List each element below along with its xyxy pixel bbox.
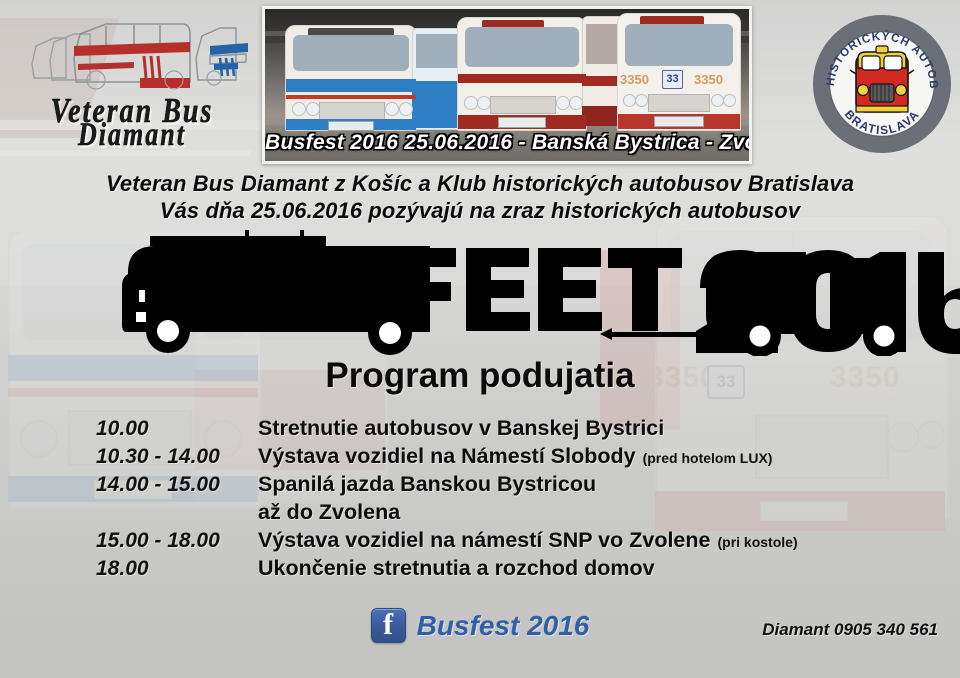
badge-bus-illustration [850, 46, 914, 112]
photo-bus-red [457, 17, 587, 131]
program-time: 15.00 - 18.00 [96, 529, 258, 553]
program-time: 10.00 [96, 417, 258, 441]
program-row: 18.00 Ukončenie stretnutia a rozchod dom… [96, 556, 916, 581]
facebook-f-glyph: f [372, 608, 405, 642]
logo-word-diamant: Diamant [14, 116, 250, 154]
program-note: (pri kostole) [717, 534, 797, 550]
busfest-wordmark-icon [0, 228, 960, 356]
program-description: Výstava vozidiel na Námestí Slobody [258, 444, 636, 469]
program-note: (pred hotelom LUX) [643, 450, 773, 466]
program-description: Výstava vozidiel na námestí SNP vo Zvole… [258, 528, 710, 553]
veteran-bus-diamant-logo: Veteran Bus Diamant [14, 12, 250, 147]
program-row: 10.30 - 14.00 Výstava vozidiel na Námest… [96, 444, 916, 469]
photo-bus-route-badge: 33 [662, 70, 683, 89]
program-description: Stretnutie autobusov v Banskej Bystrici [258, 416, 664, 441]
club-badge-icon: KLUB HISTORICKÝCH AUTOBUSOV BRATISLAVA [812, 14, 952, 154]
program-row: 10.00 Stretnutie autobusov v Banskej Bys… [96, 416, 916, 441]
program-description: až do Zvolena [258, 500, 400, 525]
photo-bus-blue [285, 25, 417, 131]
header-photo-strip: 3350 3350 33 Busfest 2016 25.06.2016 - B… [262, 6, 752, 164]
busfest-poster: 3350 3350 33 [0, 0, 960, 678]
program-time: 10.30 - 14.00 [96, 445, 258, 469]
program-schedule: 10.00 Stretnutie autobusov v Banskej Bys… [96, 416, 916, 584]
program-row-continuation: až do Zvolena [96, 500, 916, 525]
klub-historickych-autobusov-badge: KLUB HISTORICKÝCH AUTOBUSOV BRATISLAVA [812, 14, 952, 154]
photo-bus-bratislava: 3350 3350 33 [617, 13, 741, 131]
header-line-1: Veteran Bus Diamant z Košíc a Klub histo… [0, 170, 960, 197]
program-heading: Program podujatia [0, 356, 960, 396]
header-text-block: Veteran Bus Diamant z Košíc a Klub histo… [0, 170, 960, 224]
facebook-icon[interactable]: f [371, 608, 406, 643]
photo-strip-caption: Busfest 2016 25.06.2016 - Banská Bystric… [265, 131, 749, 155]
program-row: 14.00 - 15.00 Spanilá jazda Banskou Byst… [96, 472, 916, 497]
header-line-2: Vás dňa 25.06.2016 pozývajú na zraz hist… [0, 197, 960, 224]
program-description: Ukončenie stretnutia a rozchod domov [258, 556, 655, 581]
veteran-bus-outline-icon [14, 12, 250, 100]
busfest-2016-wordmark [0, 228, 960, 356]
program-row: 15.00 - 18.00 Výstava vozidiel na námest… [96, 528, 916, 553]
program-description: Spanilá jazda Banskou Bystricou [258, 472, 596, 497]
contact-phone: Diamant 0905 340 561 [762, 620, 938, 640]
facebook-page-name: Busfest 2016 [417, 610, 590, 642]
photo-bus-fleet-number-right: 3350 [694, 72, 723, 87]
program-time: 14.00 - 15.00 [96, 473, 258, 497]
photo-bus-fleet-number-left: 3350 [620, 72, 649, 87]
program-time: 18.00 [96, 557, 258, 581]
